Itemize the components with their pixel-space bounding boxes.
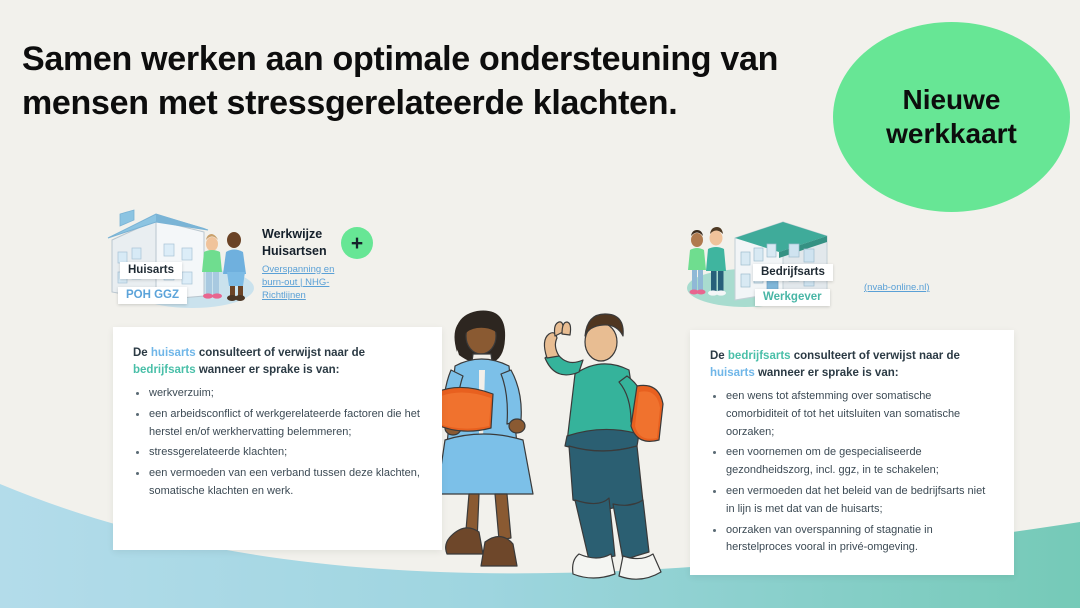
right-lead-highlight-huisarts: huisarts	[710, 367, 755, 379]
left-lead-part3: wanneer er sprake is van:	[196, 364, 340, 376]
plus-icon: +	[351, 233, 363, 254]
list-item: een vermoeden dat het beleid van de bedr…	[710, 483, 994, 519]
huisarts-scene: Huisarts POH GGZ	[100, 196, 260, 311]
bedrijfsarts-info-box: De bedrijfsarts consulteert of verwijst …	[690, 330, 1014, 575]
list-item: een wens tot afstemming over somatische …	[710, 388, 994, 441]
infographic-canvas: Samen werken aan optimale ondersteuning …	[0, 0, 1080, 608]
huisarts-info-box: De huisarts consulteert of verwijst naar…	[113, 327, 442, 550]
label-werkgever: Werkgever	[755, 289, 830, 306]
right-lead-highlight-bedrijfsarts: bedrijfsarts	[728, 350, 791, 362]
right-box-list: een wens tot afstemming over somatische …	[710, 388, 994, 557]
werkwijze-title-line-2: Huisartsen	[262, 244, 327, 258]
right-box-lead: De bedrijfsarts consulteert of verwijst …	[710, 348, 994, 383]
title-line-2: mensen met stressgerelateerde klachten.	[22, 82, 852, 126]
bedrijfsarts-scene: Bedrijfsarts Werkgever	[683, 196, 853, 314]
badge-line-1: Nieuwe	[902, 84, 1000, 115]
list-item: oorzaken van overspanning of stagnatie i…	[710, 522, 994, 558]
right-lead-part3: wanneer er sprake is van:	[755, 367, 899, 379]
nvab-online-link[interactable]: (nvab-online.nl)	[864, 282, 929, 293]
right-lead-part2: consulteert of verwijst naar de	[791, 350, 960, 362]
werkwijze-title: Werkwijze Huisartsen	[262, 226, 342, 261]
page-title: Samen werken aan optimale ondersteuning …	[22, 38, 852, 125]
label-huisarts: Huisarts	[120, 262, 182, 279]
nhg-richtlijnen-link[interactable]: Overspanning en burn-out | NHG-Richtlijn…	[262, 263, 342, 303]
left-lead-highlight-bedrijfsarts: bedrijfsarts	[133, 364, 196, 376]
expand-plus-button[interactable]: +	[341, 227, 373, 259]
list-item: een voornemen om de gespecialiseerde gez…	[710, 444, 994, 480]
werkwijze-huisartsen-block: Werkwijze Huisartsen Overspanning en bur…	[262, 226, 342, 303]
list-item: stressgerelateerde klachten;	[133, 444, 422, 462]
walking-figures-illustration	[415, 300, 685, 600]
badge-line-2: werkkaart	[886, 118, 1017, 149]
label-poh-ggz: POH GGZ	[118, 287, 187, 304]
left-lead-part2: consulteert of verwijst naar de	[196, 347, 365, 359]
list-item: een vermoeden van een verband tussen dez…	[133, 465, 422, 501]
list-item: werkverzuim;	[133, 385, 422, 403]
title-line-1: Samen werken aan optimale ondersteuning …	[22, 40, 778, 78]
left-box-list: werkverzuim; een arbeidsconflict of werk…	[133, 385, 422, 501]
left-box-lead: De huisarts consulteert of verwijst naar…	[133, 345, 422, 380]
label-bedrijfsarts: Bedrijfsarts	[753, 264, 833, 281]
left-lead-highlight-huisarts: huisarts	[151, 347, 196, 359]
left-lead-part1: De	[133, 347, 151, 359]
list-item: een arbeidsconflict of werkgerelateerde …	[133, 406, 422, 442]
werkwijze-title-line-1: Werkwijze	[262, 227, 322, 241]
new-workcard-badge: Nieuwe werkkaart	[833, 22, 1070, 212]
badge-text: Nieuwe werkkaart	[886, 83, 1017, 151]
right-lead-part1: De	[710, 350, 728, 362]
